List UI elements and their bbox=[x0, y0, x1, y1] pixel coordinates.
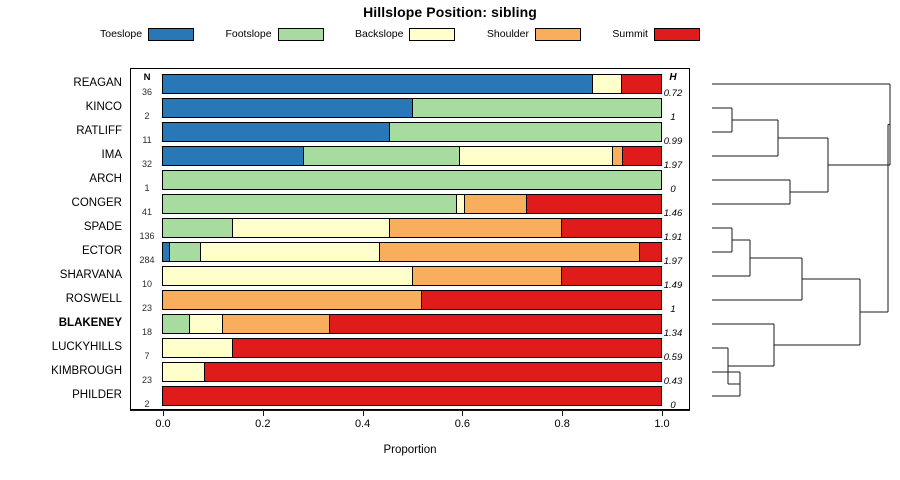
bar-segment-backslope bbox=[162, 338, 233, 358]
bar-row bbox=[163, 194, 662, 214]
bar-segment-footslope bbox=[169, 242, 201, 262]
bar-row bbox=[163, 74, 662, 94]
bar-segment-footslope bbox=[303, 146, 460, 166]
bar-segment-toeslope bbox=[162, 74, 593, 94]
bar-segment-summit bbox=[329, 314, 662, 334]
bar-segment-backslope bbox=[162, 362, 205, 382]
bar-segment-footslope bbox=[389, 122, 662, 142]
bar-segment-summit bbox=[561, 218, 662, 238]
bar-segment-backslope bbox=[592, 74, 622, 94]
bar-segment-summit bbox=[561, 266, 662, 286]
x-axis-tick bbox=[662, 410, 663, 416]
bar-segment-summit bbox=[621, 74, 662, 94]
bar-segment-footslope bbox=[162, 314, 190, 334]
bar-row bbox=[163, 170, 662, 190]
bar-segment-shoulder bbox=[412, 266, 563, 286]
x-axis-tick bbox=[562, 410, 563, 416]
x-axis-tick-label: 0.2 bbox=[243, 418, 283, 430]
bar-segment-backslope bbox=[200, 242, 380, 262]
bar-segment-backslope bbox=[162, 266, 413, 286]
x-axis-tick bbox=[263, 410, 264, 416]
bar-row bbox=[163, 122, 662, 142]
bar-row bbox=[163, 290, 662, 310]
bar-segment-summit bbox=[526, 194, 662, 214]
bar-row bbox=[163, 386, 662, 406]
bar-segment-shoulder bbox=[464, 194, 527, 214]
bar-segment-shoulder bbox=[379, 242, 639, 262]
bar-segment-summit bbox=[639, 242, 662, 262]
bar-segment-summit bbox=[622, 146, 662, 166]
dendrogram bbox=[700, 60, 900, 420]
bar-row bbox=[163, 266, 662, 286]
bar-segment-toeslope bbox=[162, 146, 304, 166]
x-axis-tick-label: 0.8 bbox=[542, 418, 582, 430]
x-axis-line bbox=[130, 410, 690, 411]
x-axis-tick bbox=[163, 410, 164, 416]
bar-segment-shoulder bbox=[222, 314, 330, 334]
bar-segment-footslope bbox=[162, 194, 457, 214]
x-axis: 0.00.20.40.60.81.0 bbox=[130, 410, 690, 411]
x-axis-tick-label: 0.6 bbox=[442, 418, 482, 430]
x-axis-tick bbox=[363, 410, 364, 416]
bar-segment-toeslope bbox=[162, 122, 390, 142]
bar-segment-summit bbox=[204, 362, 662, 382]
bar-segment-backslope bbox=[459, 146, 613, 166]
x-axis-tick bbox=[462, 410, 463, 416]
x-axis-tick-label: 1.0 bbox=[642, 418, 682, 430]
bar-row bbox=[163, 146, 662, 166]
bar-segment-footslope bbox=[412, 98, 663, 118]
bar-segment-toeslope bbox=[162, 98, 413, 118]
bar-row bbox=[163, 98, 662, 118]
bar-segment-backslope bbox=[232, 218, 390, 238]
bar-row bbox=[163, 338, 662, 358]
bar-row bbox=[163, 242, 662, 262]
bar-row bbox=[163, 218, 662, 238]
bar-row bbox=[163, 362, 662, 382]
bar-segment-shoulder bbox=[389, 218, 562, 238]
chart-page: Hillslope Position: sibling ToeslopeFoot… bbox=[0, 0, 900, 480]
x-axis-tick-label: 0.0 bbox=[143, 418, 183, 430]
x-axis-label: Proportion bbox=[130, 444, 690, 456]
bar-row bbox=[163, 314, 662, 334]
bar-segment-footslope bbox=[162, 170, 662, 190]
bar-segment-footslope bbox=[162, 218, 233, 238]
bar-segment-summit bbox=[421, 290, 662, 310]
bar-segment-shoulder bbox=[162, 290, 422, 310]
bar-segment-backslope bbox=[189, 314, 222, 334]
x-axis-tick-label: 0.4 bbox=[343, 418, 383, 430]
bar-segment-summit bbox=[232, 338, 662, 358]
bar-segment-summit bbox=[162, 386, 662, 406]
